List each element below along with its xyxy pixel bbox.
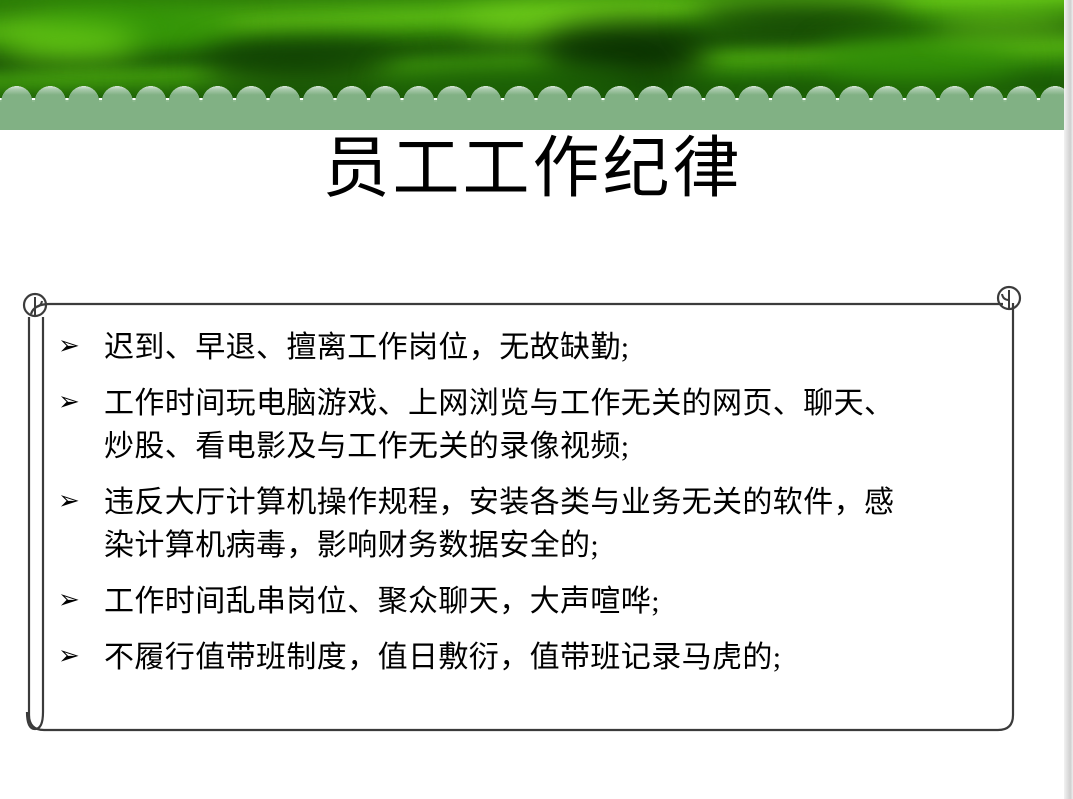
scalloped-wave-divider: [0, 86, 1065, 130]
list-item: ➢ 工作时间乱串岗位、聚众聊天，大声喧哗;: [58, 580, 1013, 623]
list-item: ➢ 迟到、早退、擅离工作岗位，无故缺勤;: [58, 326, 1013, 369]
foliage-shadow: [690, 2, 910, 36]
bullet-arrow-icon: ➢: [58, 580, 104, 620]
list-item-line: 工作时间乱串岗位、聚众聊天，大声喧哗;: [104, 585, 660, 618]
bullet-arrow-icon: ➢: [58, 382, 104, 422]
slide-header-banner: [0, 0, 1065, 130]
discipline-rules-list: ➢ 迟到、早退、擅离工作岗位，无故缺勤; ➢ 工作时间玩电脑游戏、上网浏览与工作…: [58, 326, 1013, 692]
list-item-line: 炒股、看电影及与工作无关的录像视频;: [104, 425, 1013, 468]
list-item-text: 不履行值带班制度，值日敷衍，值带班记录马虎的;: [104, 636, 1013, 679]
green-foliage-image: [0, 0, 1065, 98]
foliage-highlight: [0, 26, 140, 60]
list-item-line: 染计算机病毒，影响财务数据安全的;: [104, 524, 1013, 567]
list-item-text: 违反大厅计算机操作规程，安装各类与业务无关的软件，感 染计算机病毒，影响财务数据…: [104, 481, 1013, 567]
foliage-highlight: [820, 40, 1020, 80]
page-edge-gutter: [1064, 0, 1073, 799]
frame-top-edge: [31, 304, 1003, 314]
bullet-arrow-icon: ➢: [58, 481, 104, 521]
list-item-text: 工作时间玩电脑游戏、上网浏览与工作无关的网页、聊天、 炒股、看电影及与工作无关的…: [104, 382, 1013, 468]
frame-right-curl-hook: [1002, 294, 1009, 300]
list-item: ➢ 不履行值带班制度，值日敷衍，值带班记录马虎的;: [58, 636, 1013, 679]
list-item-line: 工作时间玩电脑游戏、上网浏览与工作无关的网页、聊天、: [104, 387, 894, 420]
slide-canvas: 员工工作纪律 ➢ 迟到、早退、擅离工作岗位，无故缺勤;: [0, 0, 1073, 799]
list-item: ➢ 工作时间玩电脑游戏、上网浏览与工作无关的网页、聊天、 炒股、看电影及与工作无…: [58, 382, 1013, 468]
bullet-arrow-icon: ➢: [58, 326, 104, 366]
slide-title: 员工工作纪律: [0, 136, 1065, 203]
bullet-arrow-icon: ➢: [58, 636, 104, 676]
list-item: ➢ 违反大厅计算机操作规程，安装各类与业务无关的软件，感 染计算机病毒，影响财务…: [58, 481, 1013, 567]
list-item-text: 工作时间乱串岗位、聚众聊天，大声喧哗;: [104, 580, 1013, 623]
list-item-line: 迟到、早退、擅离工作岗位，无故缺勤;: [104, 331, 630, 364]
foliage-shadow: [200, 44, 400, 86]
list-item-line: 违反大厅计算机操作规程，安装各类与业务无关的软件，感: [104, 486, 894, 519]
list-item-line: 不履行值带班制度，值日敷衍，值带班记录马虎的;: [104, 641, 782, 674]
list-item-text: 迟到、早退、擅离工作岗位，无故缺勤;: [104, 326, 1013, 369]
